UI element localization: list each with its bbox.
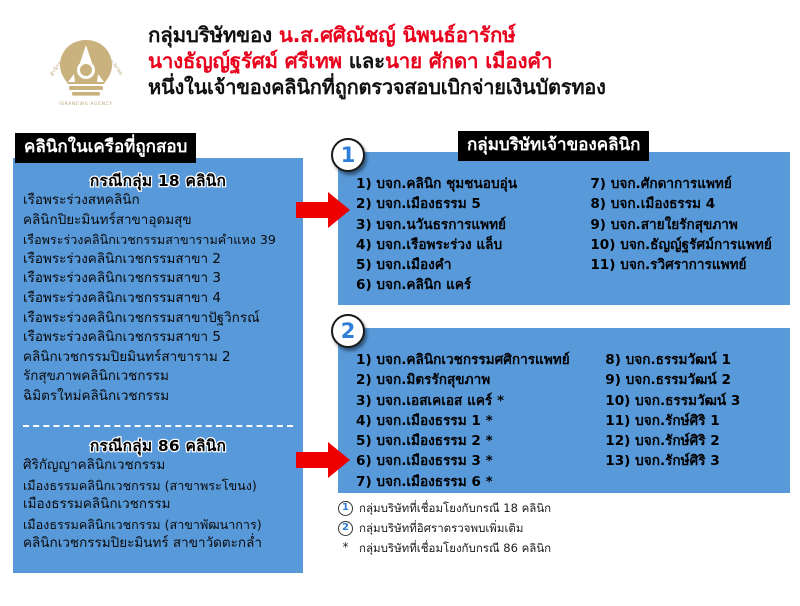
list-item: 1) บจก.คลินิกเวชกรรมศศิการแพทย์ [356, 350, 605, 370]
footnote-text: กลุ่มบริษัทที่เชื่อมโยงกับกรณี 18 คลินิก [359, 500, 551, 516]
title-block: กลุ่มบริษัทของ น.ส.ศศิณัชญ์ นิพนธ์อารักษ… [148, 22, 796, 100]
list-item: 10) บจก.ธัญญ์ฐรัศม์การแพทย์ [590, 235, 784, 255]
title-line-2: นางธัญญ์ฐรัศม์ ศรีเทพ และนาย ศักดา เมือง… [148, 48, 796, 74]
right-panel-tag: กลุ่มบริษัทเจ้าของคลินิก [458, 131, 649, 161]
list-item: 12) บจก.รักษ์ศิริ 2 [605, 431, 784, 451]
group-86-heading: กรณีกลุ่ม 86 คลินิก [13, 433, 303, 458]
group-18-heading: กรณีกลุ่ม 18 คลินิก [13, 168, 303, 193]
list-item: 4) บจก.เมืองธรรม 1 * [356, 411, 605, 431]
list-item: 6) บจก.เมืองธรรม 3 * [356, 451, 605, 471]
section-2-columns: 1) บจก.คลินิกเวชกรรมศศิการแพทย์ 2) บจก.ม… [356, 350, 784, 492]
list-item: 2) บจก.เมืองธรรม 5 [356, 194, 590, 214]
flow-arrow-2 [296, 440, 350, 480]
left-panel-tag: คลินิกในเครือที่ถูกสอบ [15, 133, 196, 163]
list-item: เรือพระร่วงคลินิกเวชกรรมสาขา 3 [23, 269, 303, 289]
title-line-2-black: และ [349, 49, 385, 73]
list-item: เรือพระร่วงคลินิกเวชกรรมสาขา 2 [23, 250, 303, 270]
list-item: 3) บจก.นวันธรการแพทย์ [356, 215, 590, 235]
list-item: 9) บจก.ธรรมวัฒน์ 2 [605, 370, 784, 390]
logo-bulb-base-2 [72, 92, 100, 96]
footnote-row: * กลุ่มบริษัทที่เชื่อมโยงกับกรณี 86 คลิน… [338, 540, 790, 558]
title-line-2-red-b: นาย ศักดา เมืองคำ [385, 49, 552, 73]
footnote-row: 2 กลุ่มบริษัทที่อิศราตรวจพบเพิ่มเติม [338, 520, 790, 538]
list-item: เมืองธรรมคลินิกเวชกรรม (สาขาพระโขนง) [23, 476, 303, 496]
list-item: 8) บจก.ธรรมวัฒน์ 1 [605, 350, 784, 370]
list-item: 8) บจก.เมืองธรรม 4 [590, 194, 784, 214]
list-item: เรือพระร่วงคลินิกเวชกรรมสาขา 5 [23, 328, 303, 348]
list-item: 2) บจก.มิตรรักสุขภาพ [356, 370, 605, 390]
list-item: รักสุขภาพคลินิกเวชกรรม [23, 367, 303, 387]
list-item: 5) บจก.เมืองคำ [356, 255, 590, 275]
logo-lightbulb-pen-icon: สำนักข่าวอิศรา : https://www.isranews.or… [38, 18, 134, 114]
group-divider [23, 425, 293, 427]
list-item: 7) บจก.เมืองธรรม 6 * [356, 472, 605, 492]
page-header: สำนักข่าวอิศรา : https://www.isranews.or… [0, 0, 800, 128]
group-18-list: เรือพระร่วงสหคลินิก คลินิกปิยะมินทร์สาขา… [23, 191, 303, 407]
footnote-row: 1 กลุ่มบริษัทที่เชื่อมโยงกับกรณี 18 คลิน… [338, 500, 790, 518]
section-2-badge: 2 [331, 314, 365, 348]
title-line-1-black: กลุ่มบริษัทของ [148, 23, 279, 47]
list-item: เรือพระร่วงคลินิกเวชกรรมสาขารามคำแหง 39 [23, 230, 303, 250]
list-item: 5) บจก.เมืองธรรม 2 * [356, 431, 605, 451]
list-item: 6) บจก.คลินิก แคร์ [356, 275, 590, 295]
footnote-badge-1: 1 [338, 501, 353, 516]
list-item: เรือพระร่วงสหคลินิก [23, 191, 303, 211]
list-item: คลินิกเวชกรรมปิยมินทร์สาขาราม 2 [23, 348, 303, 368]
list-item: 11) บจก.รวิศราการแพทย์ [590, 255, 784, 275]
title-line-1-red: น.ส.ศศิณัชญ์ นิพนธ์อารักษ์ [279, 23, 516, 47]
list-item: 7) บจก.ศักดาการแพทย์ [590, 174, 784, 194]
list-item: 1) บจก.คลินิก ชุมชนอบอุ่น [356, 174, 590, 194]
group-86-list: ศิริกัญญาคลินิกเวชกรรม เมืองธรรมคลินิกเว… [23, 456, 303, 554]
list-item: คลินิกเวชกรรมปิยะมินทร์ สาขาวัดตะกล่ำ [23, 534, 303, 554]
section-1-column-a: 1) บจก.คลินิก ชุมชนอบอุ่น 2) บจก.เมืองธร… [356, 174, 590, 296]
footnote-text: กลุ่มบริษัทที่อิศราตรวจพบเพิ่มเติม [359, 520, 523, 536]
logo-nib-dot [80, 64, 92, 76]
list-item: ศิริกัญญาคลินิกเวชกรรม [23, 456, 303, 476]
list-item: 9) บจก.สายใยรักสุขภาพ [590, 215, 784, 235]
list-item: 13) บจก.รักษ์ศิริ 3 [605, 451, 784, 471]
list-item: 10) บจก.ธรรมวัฒน์ 3 [605, 391, 784, 411]
logo-bottom-text: ISRANEWS AGENCY [59, 101, 113, 107]
list-item: คลินิกปิยะมินทร์สาขาอุดมสุข [23, 211, 303, 231]
left-clinics-content: กรณีกลุ่ม 18 คลินิก เรือพระร่วงสหคลินิก … [13, 158, 303, 573]
list-item: 3) บจก.เอสเคเอส แคร์ * [356, 391, 605, 411]
list-item: 11) บจก.รักษ์ศิริ 1 [605, 411, 784, 431]
footnote-asterisk-marker: * [338, 540, 353, 555]
title-line-2-red-a: นางธัญญ์ฐรัศม์ ศรีเทพ [148, 49, 349, 73]
footnote-badge-2: 2 [338, 521, 353, 536]
footnotes-legend: 1 กลุ่มบริษัทที่เชื่อมโยงกับกรณี 18 คลิน… [338, 500, 790, 560]
section-1-columns: 1) บจก.คลินิก ชุมชนอบอุ่น 2) บจก.เมืองธร… [356, 174, 784, 296]
owner-companies-section-2: 1) บจก.คลินิกเวชกรรมศศิการแพทย์ 2) บจก.ม… [338, 328, 790, 493]
footnote-text: กลุ่มบริษัทที่เชื่อมโยงกับกรณี 86 คลินิก [359, 540, 551, 556]
section-1-column-b: 7) บจก.ศักดาการแพทย์ 8) บจก.เมืองธรรม 4 … [590, 174, 784, 296]
arrow-right-icon [296, 440, 350, 480]
section-2-column-b: 8) บจก.ธรรมวัฒน์ 1 9) บจก.ธรรมวัฒน์ 2 10… [605, 350, 784, 492]
flow-arrow-1 [296, 190, 350, 230]
title-line-3: หนึ่งในเจ้าของคลินิกที่ถูกตรวจสอบเบิกจ่า… [148, 74, 796, 100]
list-item: ฉิมิตรใหม่คลินิกเวชกรรม [23, 387, 303, 407]
arrow-right-icon [296, 190, 350, 230]
owner-companies-section-1: 1) บจก.คลินิก ชุมชนอบอุ่น 2) บจก.เมืองธร… [338, 152, 790, 305]
list-item: เมืองธรรมคลินิกเวชกรรม (สาขาพัฒนาการ) [23, 515, 303, 535]
section-2-column-a: 1) บจก.คลินิกเวชกรรมศศิการแพทย์ 2) บจก.ม… [356, 350, 605, 492]
logo-bulb-base-1 [69, 86, 103, 90]
list-item: เรือพระร่วงคลินิกเวชกรรมสาขาปัฐวิกรณ์ [23, 309, 303, 329]
list-item: เมืองธรรมคลินิกเวชกรรม [23, 495, 303, 515]
list-item: เรือพระร่วงคลินิกเวชกรรมสาขา 4 [23, 289, 303, 309]
section-1-badge: 1 [331, 138, 365, 172]
isranews-logo: สำนักข่าวอิศรา : https://www.isranews.or… [38, 18, 134, 114]
list-item: 4) บจก.เรือพระร่วง แล็บ [356, 235, 590, 255]
title-line-1: กลุ่มบริษัทของ น.ส.ศศิณัชญ์ นิพนธ์อารักษ… [148, 22, 796, 48]
